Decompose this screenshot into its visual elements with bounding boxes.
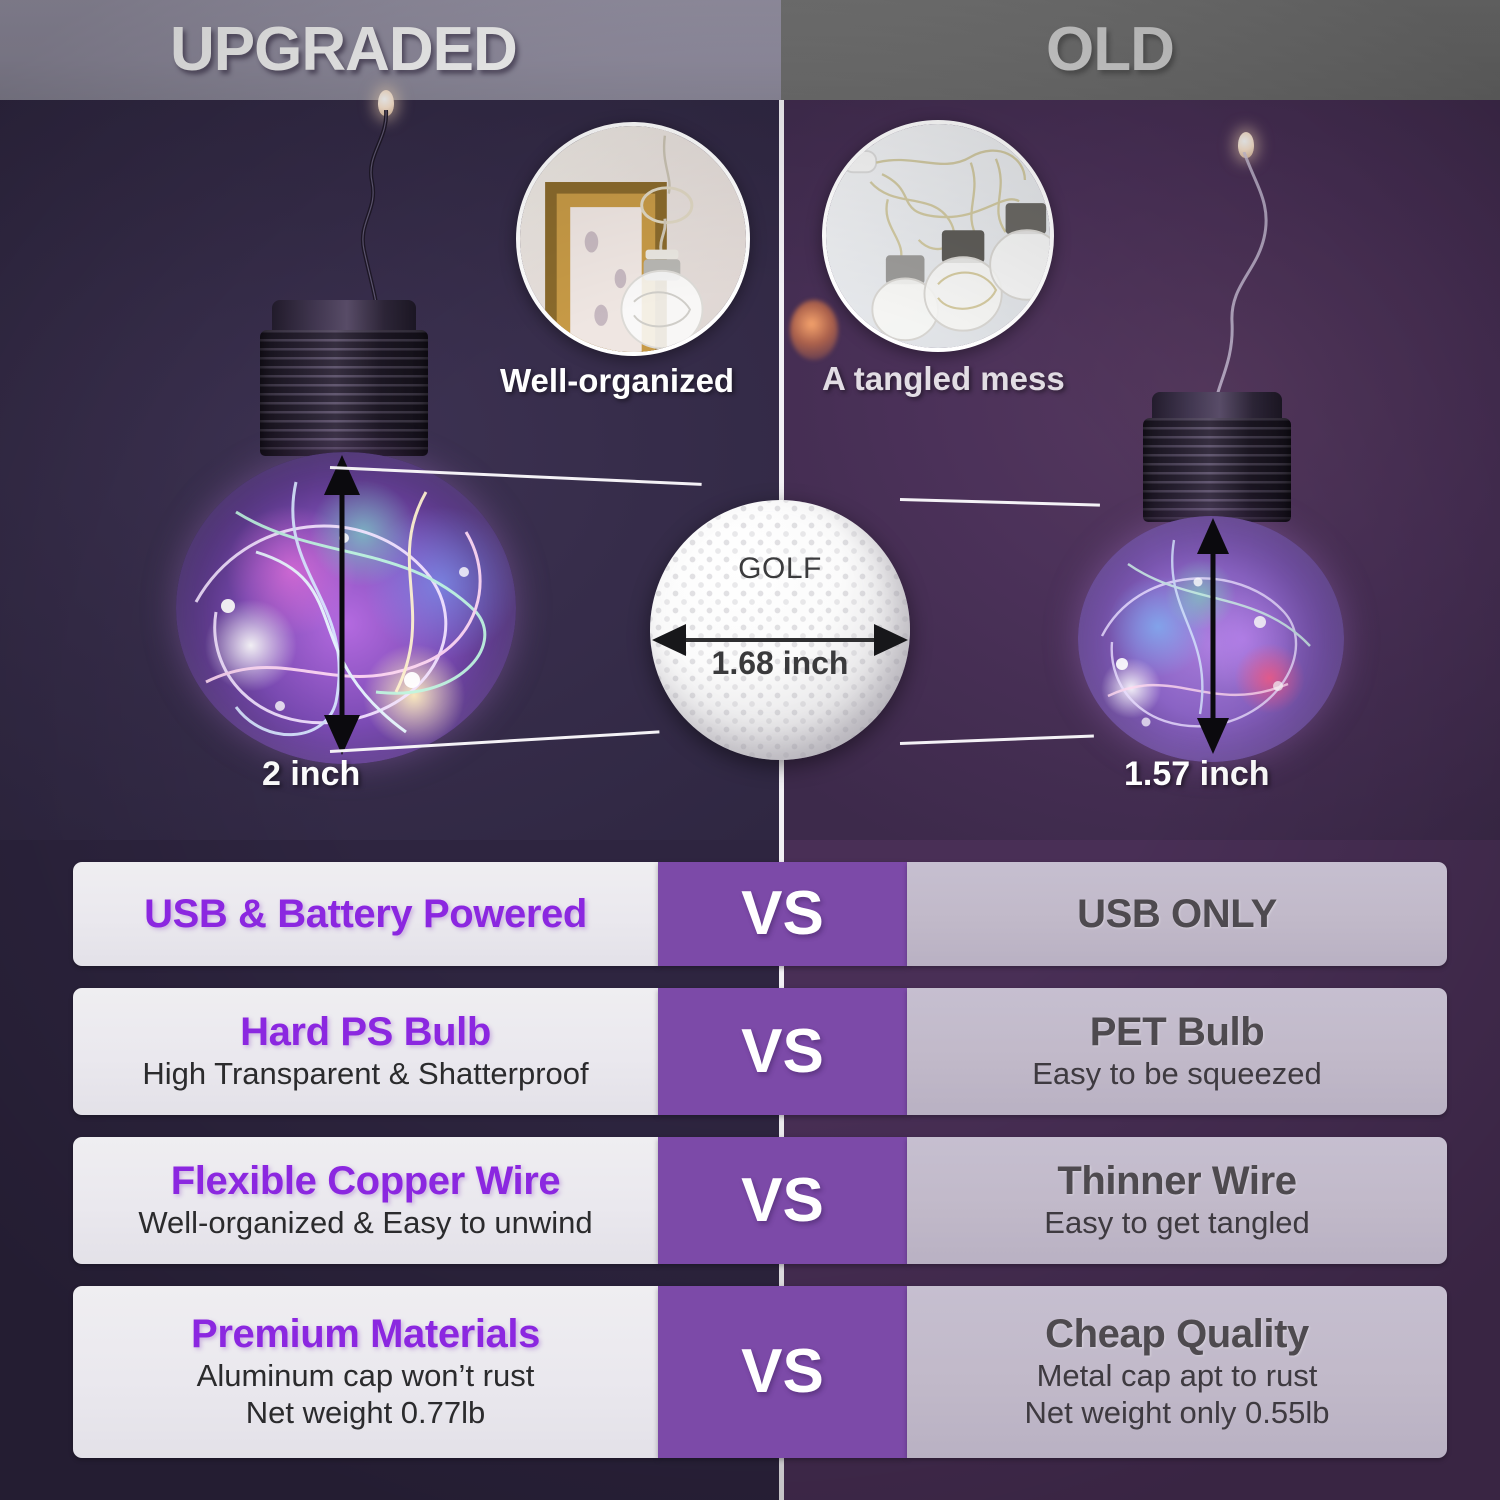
row-2-left-title: Hard PS Bulb — [240, 1010, 491, 1055]
row-4-left-sub-2: Net weight 0.77lb — [246, 1394, 486, 1432]
table-row: Premium Materials Aluminum cap won’t rus… — [0, 1286, 1500, 1458]
table-row: Flexible Copper Wire Well-organized & Ea… — [0, 1137, 1500, 1264]
row-3-right-sub: Easy to get tangled — [1044, 1204, 1309, 1242]
golf-ball-brand-text: GOLF — [650, 552, 910, 586]
row-3-left-sub: Well-organized & Easy to unwind — [138, 1204, 592, 1242]
vs-label: VS — [741, 883, 824, 945]
row-4-right-cell: Cheap Quality Metal cap apt to rust Net … — [907, 1286, 1447, 1458]
inset-photo-tangled-mess — [822, 120, 1054, 352]
table-row: Hard PS Bulb High Transparent & Shatterp… — [0, 988, 1500, 1115]
row-4-left-cell: Premium Materials Aluminum cap won’t rus… — [73, 1286, 658, 1458]
left-bulb-measure-label: 2 inch — [262, 755, 360, 794]
row-2-right-title: PET Bulb — [1090, 1010, 1265, 1055]
row-1-right-cell: USB ONLY — [907, 862, 1447, 966]
row-1-left-cell: USB & Battery Powered — [73, 862, 658, 966]
vs-label: VS — [741, 1341, 824, 1403]
comparison-table: USB & Battery Powered VS USB ONLY Hard P… — [0, 862, 1500, 1458]
row-2-left-cell: Hard PS Bulb High Transparent & Shatterp… — [73, 988, 658, 1115]
left-hanging-wire-icon — [260, 110, 440, 320]
row-3-right-cell: Thinner Wire Easy to get tangled — [907, 1137, 1447, 1264]
row-2-vs-block: VS — [658, 988, 907, 1115]
golf-ball-measure-label: 1.68 inch — [650, 645, 910, 682]
row-3-left-cell: Flexible Copper Wire Well-organized & Ea… — [73, 1137, 658, 1264]
vs-label: VS — [741, 1021, 824, 1083]
right-bulb-screw-cap-icon — [1143, 418, 1291, 522]
row-4-right-sub-1: Metal cap apt to rust — [1037, 1357, 1318, 1395]
row-2-right-sub: Easy to be squeezed — [1032, 1055, 1322, 1093]
inset-photo-well-organized — [516, 122, 750, 356]
row-1-left-title: USB & Battery Powered — [144, 892, 587, 937]
right-hanging-wire-icon — [1160, 152, 1350, 402]
inset-well-organized-illustration — [520, 126, 746, 352]
left-bulb-collar — [272, 300, 416, 334]
left-bulb-measure-arrow — [312, 455, 372, 755]
right-bulb-measure-arrow — [1186, 518, 1240, 754]
left-bulb-screw-cap-icon — [260, 330, 428, 456]
comparison-infographic: UPGRADED OLD — [0, 0, 1500, 1500]
inset-label-well-organized: Well-organized — [500, 362, 734, 400]
header-right-half: OLD — [781, 0, 1500, 100]
header-upgraded-label: UPGRADED — [170, 19, 517, 81]
row-2-right-cell: PET Bulb Easy to be squeezed — [907, 988, 1447, 1115]
row-1-right-title: USB ONLY — [1077, 892, 1277, 937]
row-3-right-title: Thinner Wire — [1057, 1159, 1296, 1204]
inset-tangled-mess-illustration — [826, 124, 1050, 348]
table-row: USB & Battery Powered VS USB ONLY — [0, 862, 1500, 966]
header-old-label: OLD — [1046, 19, 1174, 81]
row-4-right-title: Cheap Quality — [1045, 1312, 1309, 1357]
row-4-vs-block: VS — [658, 1286, 907, 1458]
row-4-left-title: Premium Materials — [191, 1312, 540, 1357]
inset-label-tangled-mess: A tangled mess — [822, 360, 1065, 398]
row-3-vs-block: VS — [658, 1137, 907, 1264]
row-2-left-sub: High Transparent & Shatterproof — [142, 1055, 588, 1093]
right-bulb-measure-label: 1.57 inch — [1124, 755, 1270, 794]
row-4-right-sub-2: Net weight only 0.55lb — [1024, 1394, 1329, 1432]
golf-ball-reference: GOLF 1.68 inch — [650, 500, 910, 760]
header-left-half: UPGRADED — [0, 0, 781, 100]
row-3-left-title: Flexible Copper Wire — [171, 1159, 561, 1204]
row-4-left-sub-1: Aluminum cap won’t rust — [197, 1357, 535, 1395]
header-band: UPGRADED OLD — [0, 0, 1500, 100]
row-1-vs-block: VS — [658, 862, 907, 966]
vs-label: VS — [741, 1170, 824, 1232]
